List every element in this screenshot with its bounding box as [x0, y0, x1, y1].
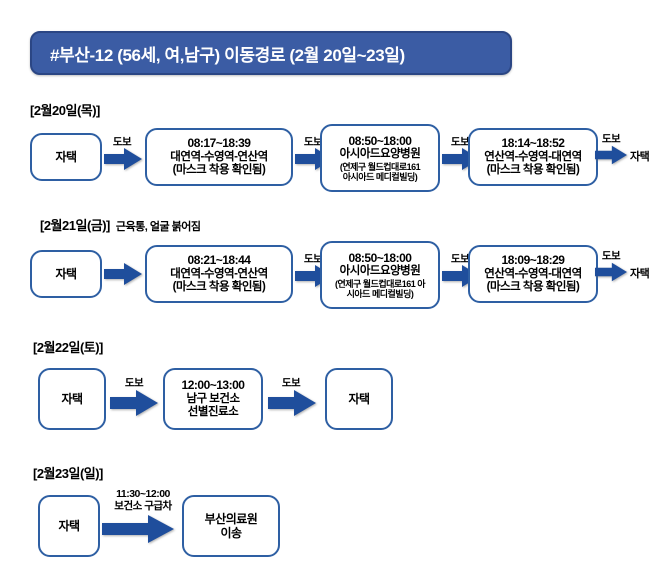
arrow-right-icon-1-0221 [104, 263, 142, 285]
node-main: 연산역-수영역-대연역 [484, 151, 581, 165]
node-transit-morning-0220[interactable]: 08:17~18:39 대연역-수영역-연산역 (마스크 착용 확인됨) [145, 128, 293, 186]
node-hospital-0221[interactable]: 08:50~18:00 아시아드요양병원 (연제구 월드컵대로161 아 시아드… [320, 241, 440, 309]
node-time: 08:50~18:00 [349, 251, 412, 265]
node-address-line-1: (연제구 월드컵대로161 아 [332, 279, 428, 289]
arrow-label-line-1: 11:30~12:00 [100, 488, 186, 500]
node-home-start-0221[interactable]: 자택 [30, 250, 102, 298]
page-title-banner: #부산-12 (56세, 여,남구) 이동경로 (2월 20일~23일) [30, 31, 512, 75]
arrow-right-icon-4-0221 [595, 262, 627, 282]
day-header-0221: [2월21일(금)]근육통, 얼굴 붉어짐 [40, 215, 201, 234]
node-transfer-0223[interactable]: 부산의료원 이송 [182, 495, 280, 557]
node-time: 08:17~18:39 [188, 136, 251, 150]
node-time: 18:09~18:29 [502, 253, 565, 267]
node-label: 자택 [61, 392, 82, 406]
node-home-end-0221: 자택 [630, 265, 649, 281]
node-time: 18:14~18:52 [502, 136, 565, 150]
day-symptom-label: 근육통, 얼굴 붉어짐 [116, 221, 201, 233]
node-address-line-2: 아시아드 메디컬빌딩) [340, 172, 421, 182]
node-main: 아시아드요양병원 [340, 265, 421, 279]
node-label: 자택 [55, 267, 76, 281]
node-sub-1: (마스크 착용 확인됨) [173, 281, 266, 295]
node-time: 12:00~13:00 [182, 378, 245, 392]
node-label: 자택 [58, 519, 79, 533]
node-address-line-2: 시아드 메디컬빌딩) [344, 289, 417, 299]
node-extra: 선별진료소 [188, 406, 238, 420]
day-header-0222: [2월22일(토)] [33, 337, 103, 356]
node-label: 자택 [55, 150, 76, 164]
day-header-label: [2월23일(일)] [33, 466, 103, 481]
node-main: 연산역-수영역-대연역 [484, 268, 581, 282]
node-label-line-1: 부산의료원 [205, 512, 258, 526]
node-transit-morning-0221[interactable]: 08:21~18:44 대연역-수영역-연산역 (마스크 착용 확인됨) [145, 245, 293, 303]
node-label: 자택 [348, 392, 369, 406]
arrow-label-line-2: 보건소 구급차 [100, 500, 186, 512]
arrow-label-walk-1-0220: 도보 [100, 134, 144, 149]
node-main: 대연역-수영역-연산역 [170, 151, 267, 165]
node-address-line-1: (연제구 월드컵대로161 [337, 162, 423, 172]
day-header-0223: [2월23일(일)] [33, 463, 103, 482]
node-sub-1: (마스크 착용 확인됨) [487, 281, 580, 295]
arrow-label-walk-4-0220: 도보 [592, 131, 630, 146]
day-header-label: [2월22일(토)] [33, 340, 103, 355]
day-header-0220: [2월20일(목)] [30, 100, 100, 119]
node-time: 08:21~18:44 [188, 253, 251, 267]
arrow-right-icon-2-0222 [268, 390, 316, 416]
node-main: 아시아드요양병원 [340, 148, 421, 162]
node-transit-evening-0220[interactable]: 18:14~18:52 연산역-수영역-대연역 (마스크 착용 확인됨) [468, 128, 598, 186]
node-time: 08:50~18:00 [349, 134, 412, 148]
node-label-line-2: 이송 [220, 526, 241, 540]
node-home-start-0223[interactable]: 자택 [38, 495, 100, 557]
arrow-label-walk-4-0221: 도보 [592, 248, 630, 263]
arrow-right-icon-1-0220 [104, 148, 142, 170]
node-home-start-0220[interactable]: 자택 [30, 133, 102, 181]
node-main: 남구 보건소 [186, 393, 239, 407]
arrow-right-icon-1-0223 [102, 515, 174, 543]
node-sub-1: (마스크 착용 확인됨) [487, 164, 580, 178]
node-main: 대연역-수영역-연산역 [170, 268, 267, 282]
node-home-start-0222[interactable]: 자택 [38, 368, 106, 430]
node-hospital-0220[interactable]: 08:50~18:00 아시아드요양병원 (연제구 월드컵대로161 아시아드 … [320, 124, 440, 192]
node-home-end-0222[interactable]: 자택 [325, 368, 393, 430]
day-header-label: [2월20일(목)] [30, 103, 100, 118]
page-title: #부산-12 (56세, 여,남구) 이동경로 (2월 20일~23일) [50, 41, 405, 66]
node-screening-center-0222[interactable]: 12:00~13:00 남구 보건소 선별진료소 [163, 368, 263, 430]
arrow-right-icon-4-0220 [595, 145, 627, 165]
arrow-label-walk-2-0222: 도보 [265, 375, 317, 390]
arrow-right-icon-1-0222 [110, 390, 158, 416]
node-home-end-0220: 자택 [630, 148, 649, 164]
arrow-label-walk-1-0222: 도보 [108, 375, 160, 390]
node-transit-evening-0221[interactable]: 18:09~18:29 연산역-수영역-대연역 (마스크 착용 확인됨) [468, 245, 598, 303]
arrow-label-ambulance-0223: 11:30~12:00 보건소 구급차 [100, 488, 186, 512]
day-header-label: [2월21일(금)] [40, 218, 110, 233]
node-sub-1: (마스크 착용 확인됨) [173, 164, 266, 178]
